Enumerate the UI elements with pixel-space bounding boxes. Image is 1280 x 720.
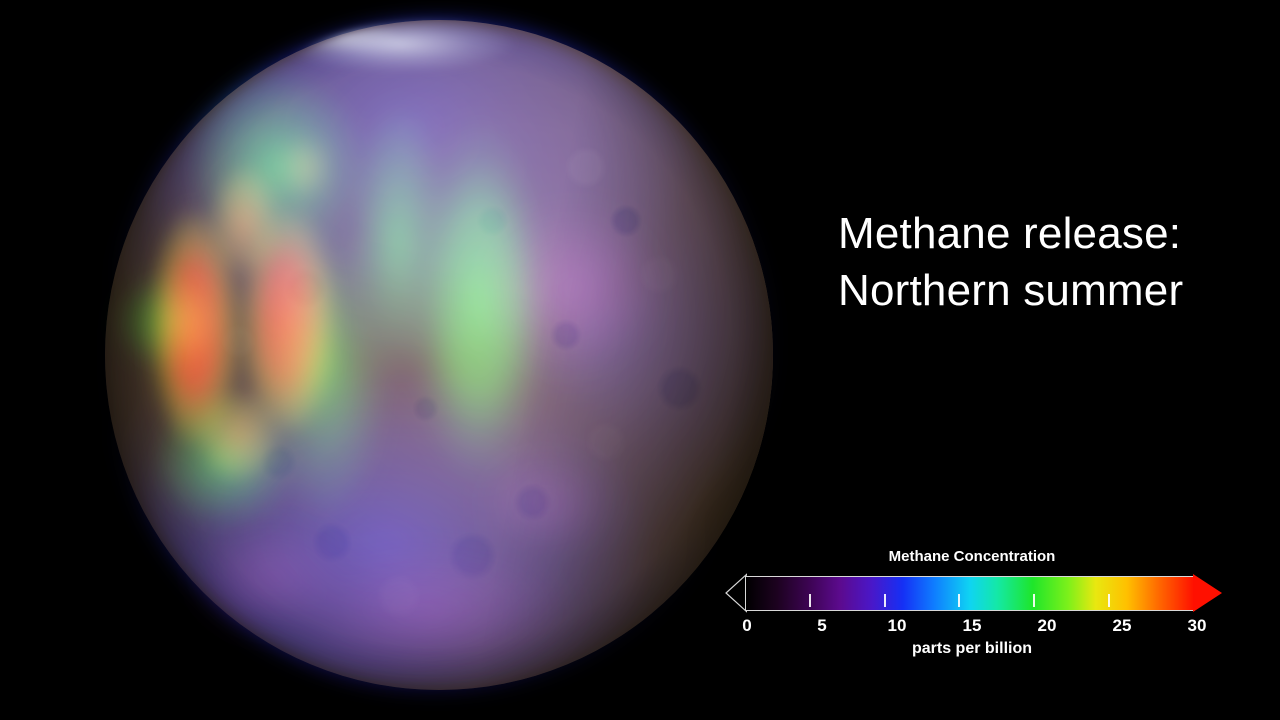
mars-limb-vignette bbox=[105, 20, 773, 690]
colorbar-ticklabel-10: 10 bbox=[888, 616, 907, 636]
colorbar-ticklabel-25: 25 bbox=[1113, 616, 1132, 636]
colorbar-ticklabel-5: 5 bbox=[817, 616, 826, 636]
mars-globe bbox=[105, 20, 773, 690]
colorbar-tick-25 bbox=[1108, 594, 1110, 607]
colorbar-over-range-arrow-icon bbox=[1193, 573, 1223, 613]
colorbar-tick-10 bbox=[884, 594, 886, 607]
colorbar-ticklabel-15: 15 bbox=[963, 616, 982, 636]
colorbar-tick-labels: 0 5 10 15 20 25 30 bbox=[712, 616, 1232, 638]
colorbar-legend: Methane Concentration 0 5 10 15 20 25 bbox=[712, 548, 1232, 668]
colorbar-units-label: parts per billion bbox=[712, 640, 1232, 658]
colorbar-under-range-arrow-icon bbox=[725, 573, 747, 613]
colorbar-ticklabel-0: 0 bbox=[742, 616, 751, 636]
colorbar-ticklabel-30: 30 bbox=[1188, 616, 1207, 636]
colorbar-track bbox=[712, 573, 1232, 615]
scene-root: Methane release: Northern summer Methane… bbox=[0, 0, 1280, 720]
colorbar-tick-5 bbox=[809, 594, 811, 607]
colorbar-title: Methane Concentration bbox=[712, 548, 1232, 565]
colorbar-tick-15 bbox=[958, 594, 960, 607]
colorbar-tick-20 bbox=[1033, 594, 1035, 607]
page-title: Methane release: Northern summer bbox=[838, 205, 1258, 319]
colorbar-ticklabel-20: 20 bbox=[1038, 616, 1057, 636]
colorbar-gradient bbox=[745, 576, 1195, 611]
